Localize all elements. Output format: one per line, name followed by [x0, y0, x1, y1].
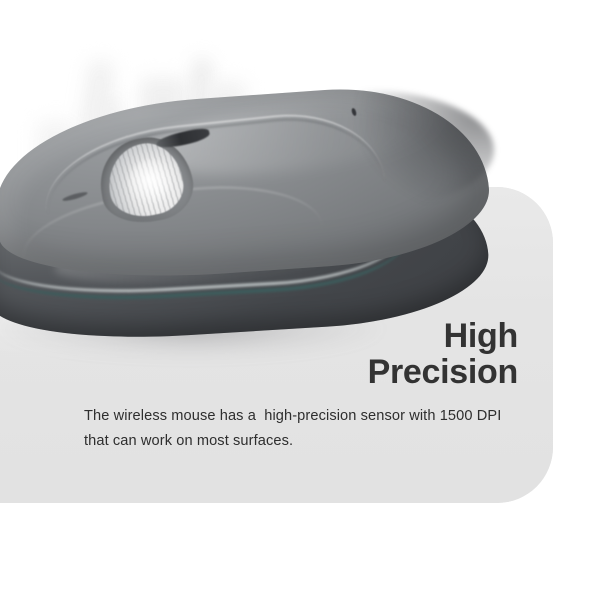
headline-line-2: Precision	[160, 354, 518, 390]
product-feature-card: High Precision The wireless mouse has a …	[0, 0, 600, 600]
page-title: High Precision	[160, 318, 518, 390]
wireless-mouse-image	[0, 86, 500, 341]
feature-description: The wireless mouse has a high-precision …	[84, 404, 524, 454]
headline-line-1: High	[160, 318, 518, 354]
scroll-wheel-gloss	[128, 160, 172, 204]
